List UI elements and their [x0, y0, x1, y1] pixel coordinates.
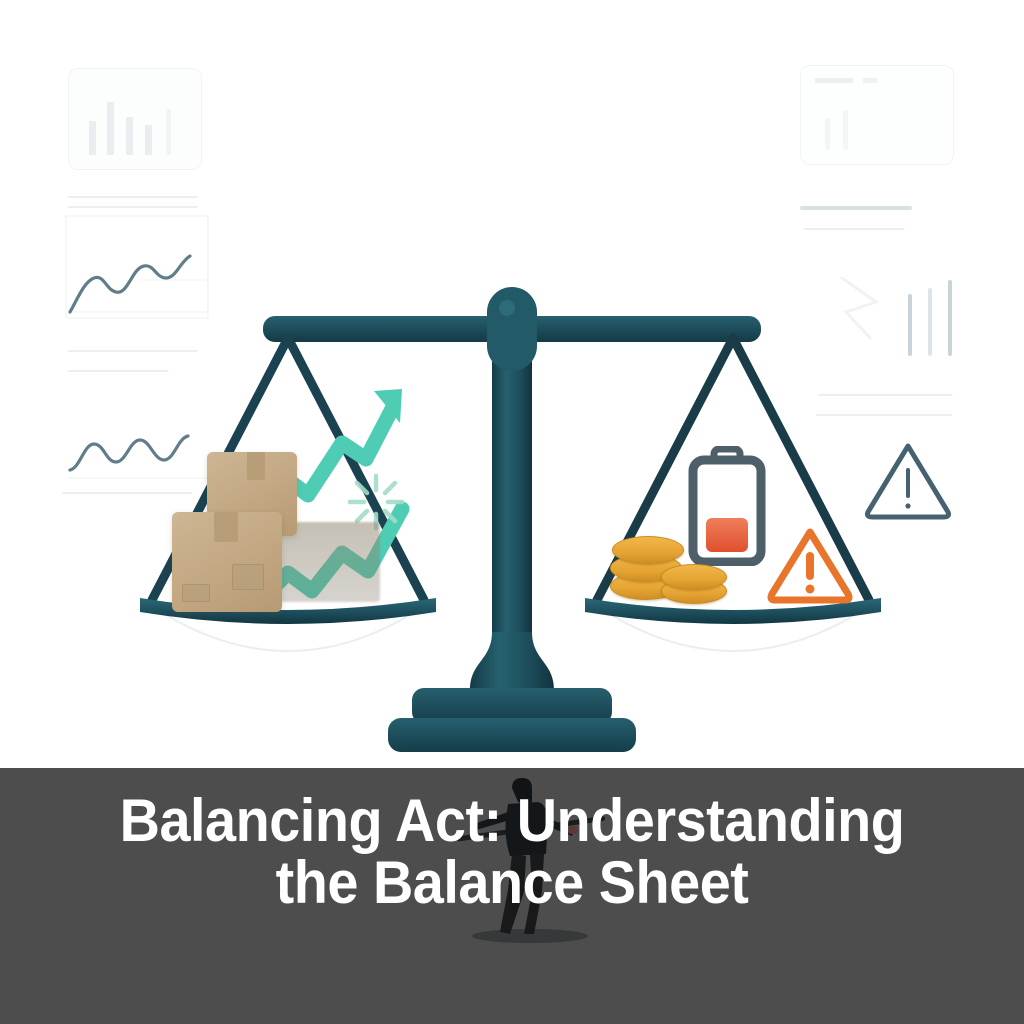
scale-column: [470, 330, 554, 690]
warning-triangle-icon: [766, 526, 854, 606]
balance-scale: [0, 0, 1024, 800]
title-banner: Balancing Act: Understanding the Balance…: [0, 768, 1024, 1024]
cardboard-box-icon: [172, 512, 282, 612]
illustration-canvas: Balancing Act: Understanding the Balance…: [0, 0, 1024, 1024]
page-title: Balancing Act: Understanding the Balance…: [36, 768, 988, 914]
low-battery-icon: [686, 446, 768, 566]
scale-beam: [263, 287, 761, 371]
scale-base: [388, 688, 636, 752]
